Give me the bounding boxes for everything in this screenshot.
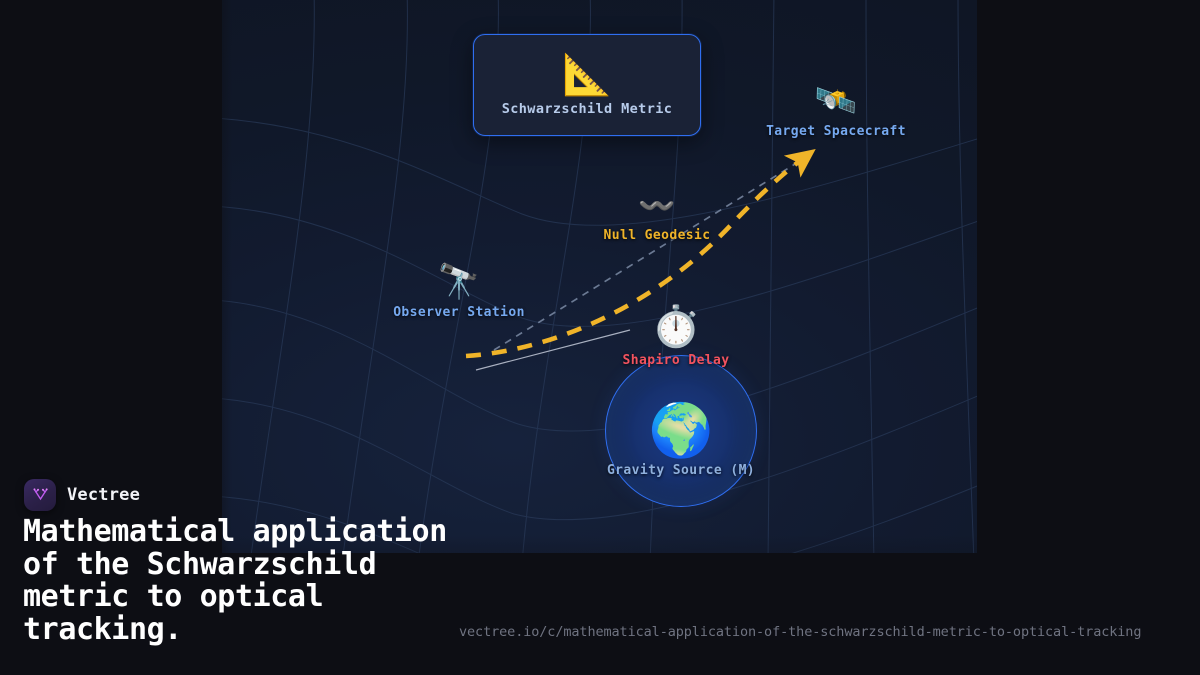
page-root: 📐 Schwarzschild Metric 🌍 Gravity Source … [0,0,1200,675]
telescope-icon: 🔭 [438,265,480,299]
page-title: Mathematical application of the Schwarzs… [23,516,493,646]
node-gravity-source[interactable]: 🌍 Gravity Source (M) [605,355,757,507]
node-null-geodesic[interactable]: 〰️ Null Geodesic [604,192,710,243]
page-url: vectree.io/c/mathematical-application-of… [459,624,1141,640]
node-observer-station-label: Observer Station [393,305,525,320]
left-edge-fade [0,0,232,553]
node-card-label: Schwarzschild Metric [502,101,673,117]
satellite-icon: 🛰️ [815,84,857,118]
stopwatch-icon: ⏱️ [651,307,701,347]
node-null-geodesic-label: Null Geodesic [604,228,711,243]
brand-row: Vectree [24,479,140,511]
node-shapiro-delay[interactable]: ⏱️ Shapiro Delay [624,307,728,368]
node-observer-station[interactable]: 🔭 Observer Station [396,265,522,320]
wavy-dash-icon: 〰️ [638,192,675,222]
triangular-ruler-icon: 📐 [562,53,612,97]
vectree-logo-icon [24,479,56,511]
diagram-canvas: 📐 Schwarzschild Metric 🌍 Gravity Source … [222,0,977,553]
node-target-spacecraft[interactable]: 🛰️ Target Spacecraft [770,84,902,139]
node-gravity-source-label: Gravity Source (M) [607,463,755,478]
node-card-schwarzschild-metric[interactable]: 📐 Schwarzschild Metric [473,34,701,136]
node-shapiro-delay-label: Shapiro Delay [623,353,730,368]
earth-globe-icon: 🌍 [649,405,714,457]
brand-name: Vectree [67,485,140,505]
node-target-spacecraft-label: Target Spacecraft [766,124,906,139]
